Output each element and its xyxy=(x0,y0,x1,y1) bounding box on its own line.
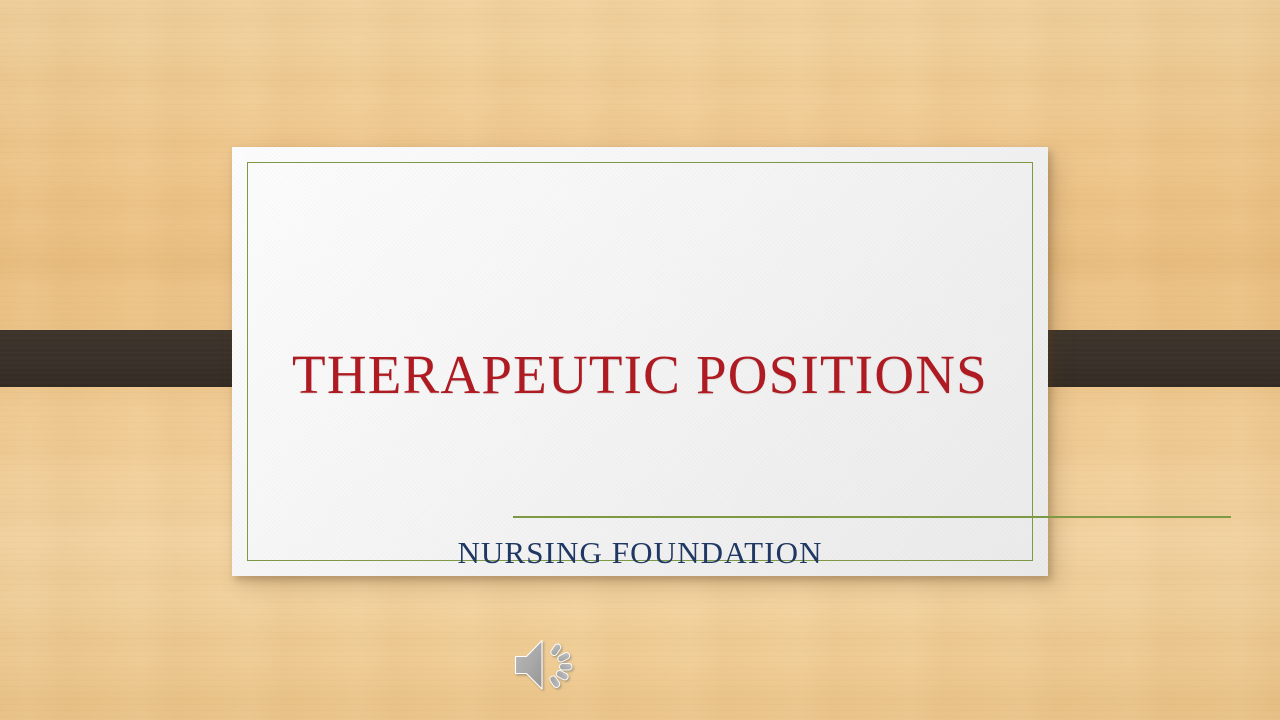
ribbon-bar-left xyxy=(0,330,252,387)
slide-card: THERAPEUTIC POSITIONS NURSING FOUNDATION xyxy=(232,147,1048,576)
slide-subtitle: NURSING FOUNDATION xyxy=(232,535,1048,571)
title-divider-line xyxy=(513,516,1231,518)
speaker-audio-icon[interactable] xyxy=(513,636,585,694)
ribbon-bar-right xyxy=(1034,330,1280,387)
presentation-slide-view: THERAPEUTIC POSITIONS NURSING FOUNDATION xyxy=(0,0,1280,720)
slide-title: THERAPEUTIC POSITIONS xyxy=(232,345,1048,406)
